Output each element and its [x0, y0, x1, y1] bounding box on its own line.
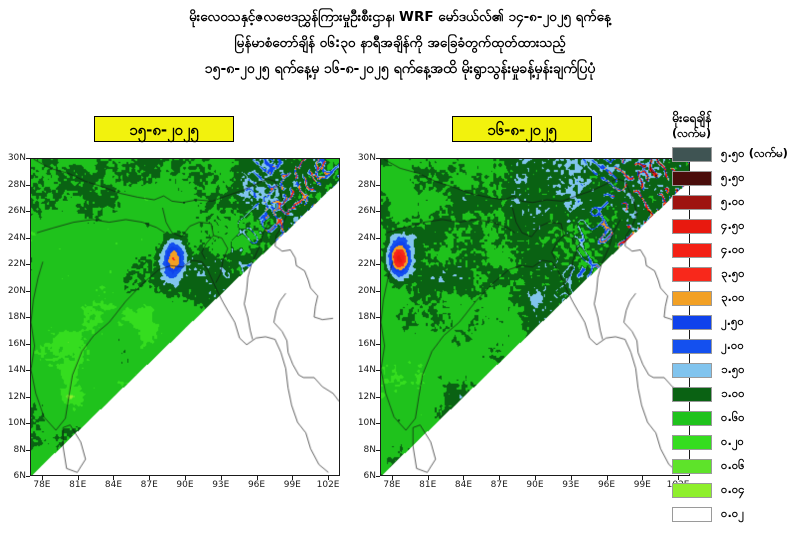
x-axis-tick — [292, 476, 293, 480]
legend-row: ၄.၀၀ — [672, 238, 800, 262]
x-axis-label: 84E — [105, 480, 122, 490]
legend-row: ၃.၀၀ — [672, 286, 800, 310]
x-axis-label: 90E — [526, 480, 543, 490]
y-axis-label: 22N — [8, 259, 26, 269]
legend-color-swatch — [672, 267, 712, 282]
y-axis-label: 14N — [358, 365, 376, 375]
legend-label: ၀.၀၂ — [721, 506, 744, 523]
x-axis-tick — [535, 476, 536, 480]
y-axis-tick — [26, 344, 30, 345]
x-axis-label: 96E — [248, 480, 265, 490]
x-axis-tick — [328, 476, 329, 480]
y-axis-tick — [26, 238, 30, 239]
legend-row: ၃.၅၀ — [672, 262, 800, 286]
legend-color-swatch — [672, 339, 712, 354]
x-axis-tick — [642, 476, 643, 480]
x-axis-label: 90E — [176, 480, 193, 490]
y-axis-label: 14N — [8, 365, 26, 375]
title-line-3: ၁၅-၈-၂၀၂၅ ရက်နေ့မှ ၁၆-၈-၂၀၂၅ ရက်နေ့အထိ မ… — [0, 56, 800, 82]
rainfall-map-right: 30N28N26N24N22N20N18N16N14N12N10N8N6N78E… — [380, 158, 690, 476]
y-axis-label: 16N — [8, 339, 26, 349]
x-axis-tick — [149, 476, 150, 480]
x-axis-label: 99E — [284, 480, 301, 490]
legend-color-swatch — [672, 315, 712, 330]
y-axis-tick — [26, 264, 30, 265]
legend-color-swatch — [672, 219, 712, 234]
y-axis-tick — [26, 211, 30, 212]
y-axis-label: 6N — [14, 471, 26, 481]
y-axis-tick — [376, 211, 380, 212]
x-axis-tick — [185, 476, 186, 480]
x-axis-tick — [463, 476, 464, 480]
y-axis-tick — [376, 370, 380, 371]
x-axis-tick — [571, 476, 572, 480]
legend-label: ၅.၅၀ (လက်မ) — [721, 146, 788, 163]
legend-color-swatch — [672, 411, 712, 426]
date-banner-left: ၁၅-၈-၂၀၂၅ — [94, 116, 234, 142]
map-frame-right — [380, 158, 690, 476]
y-axis-tick — [26, 476, 30, 477]
y-axis-tick — [26, 370, 30, 371]
y-axis-label: 20N — [358, 286, 376, 296]
x-axis-tick — [428, 476, 429, 480]
x-axis-label: 81E — [419, 480, 436, 490]
legend-label: ၄.၀၀ — [721, 242, 745, 259]
legend-label: ၀.၀၄ — [721, 482, 745, 499]
y-axis-label: 12N — [358, 392, 376, 402]
legend-row: ၀.၆၀ — [672, 406, 800, 430]
x-axis-tick — [392, 476, 393, 480]
legend-row: ၂.၅၀ — [672, 310, 800, 334]
legend-title: မိုးရေချိန် — [672, 110, 800, 126]
y-axis-label: 28N — [358, 180, 376, 190]
y-axis-tick — [376, 317, 380, 318]
y-axis-label: 30N — [8, 153, 26, 163]
legend-row: ၁.၀၀ — [672, 382, 800, 406]
legend-label: ၀.၀၆ — [721, 458, 745, 475]
y-axis-tick — [376, 476, 380, 477]
map-frame-left — [30, 158, 340, 476]
legend-label: ၀.၆၀ — [721, 410, 745, 427]
legend-color-swatch — [672, 483, 712, 498]
legend-color-swatch — [672, 459, 712, 474]
y-axis-tick — [376, 344, 380, 345]
legend-label: ၅.၅၀ — [721, 170, 745, 187]
x-axis-label: 93E — [562, 480, 579, 490]
x-axis-tick — [607, 476, 608, 480]
legend-row: ၅.၅၀ — [672, 166, 800, 190]
y-axis-tick — [26, 185, 30, 186]
y-axis-label: 6N — [364, 471, 376, 481]
y-axis-tick — [376, 291, 380, 292]
date-banner-right: ၁၆-၈-၂၀၂၅ — [452, 116, 592, 142]
x-axis-label: 99E — [634, 480, 651, 490]
legend-row: ၁.၅၀ — [672, 358, 800, 382]
x-axis-label: 96E — [598, 480, 615, 490]
x-axis-tick — [78, 476, 79, 480]
legend-color-swatch — [672, 363, 712, 378]
legend-label: ၂.၅၀ — [721, 314, 744, 331]
x-axis-label: 78E — [33, 480, 50, 490]
y-axis-label: 10N — [358, 418, 376, 428]
legend-color-swatch — [672, 195, 712, 210]
legend-label: ၅.၀၀ — [721, 194, 745, 211]
x-axis-tick — [113, 476, 114, 480]
legend-row: ၅.၀၀ — [672, 190, 800, 214]
title-line-2: မြန်မာစံတော်ချိန် ၀၆:၃၀ နာရီအချိန်ကို အခ… — [0, 30, 800, 56]
y-axis-tick — [376, 158, 380, 159]
y-axis-tick — [26, 291, 30, 292]
legend-row: ၀.၀၂ — [672, 502, 800, 526]
y-axis-label: 30N — [358, 153, 376, 163]
y-axis-tick — [376, 423, 380, 424]
legend-label: ၁.၅၀ — [721, 362, 745, 379]
legend-row: ၀.၀၄ — [672, 478, 800, 502]
y-axis-label: 26N — [358, 206, 376, 216]
legend-label: ၀.၂၀ — [721, 434, 744, 451]
x-axis-label: 87E — [491, 480, 508, 490]
legend-label: ၁.၀၀ — [721, 386, 745, 403]
x-axis-tick — [221, 476, 222, 480]
y-axis-label: 24N — [8, 233, 26, 243]
y-axis-tick — [26, 423, 30, 424]
y-axis-tick — [376, 264, 380, 265]
legend-color-swatch — [672, 291, 712, 306]
y-axis-tick — [26, 158, 30, 159]
legend-label: ၄.၅၀ — [721, 218, 745, 235]
x-axis-label: 102E — [317, 480, 340, 490]
legend-row: ၀.၀၆ — [672, 454, 800, 478]
legend-color-swatch — [672, 435, 712, 450]
title-line-1: မိုးလေဝသနှင့်ဇလဗေဒညွှန်ကြားမှုဦးစီးဌာန၊ … — [0, 4, 800, 30]
y-axis-label: 8N — [364, 445, 376, 455]
y-axis-label: 18N — [358, 312, 376, 322]
x-axis-tick — [257, 476, 258, 480]
legend-color-swatch — [672, 171, 712, 186]
legend-row: ၂.၀၀ — [672, 334, 800, 358]
legend-row: ၅.၅၀ (လက်မ) — [672, 142, 800, 166]
x-axis-label: 78E — [383, 480, 400, 490]
y-axis-label: 12N — [8, 392, 26, 402]
y-axis-tick — [26, 317, 30, 318]
page-title: မိုးလေဝသနှင့်ဇလဗေဒညွှန်ကြားမှုဦးစီးဌာန၊ … — [0, 4, 800, 82]
y-axis-tick — [376, 397, 380, 398]
y-axis-tick — [376, 238, 380, 239]
y-axis-tick — [376, 450, 380, 451]
x-axis-label: 84E — [455, 480, 472, 490]
legend-color-swatch — [672, 507, 712, 522]
y-axis-label: 18N — [8, 312, 26, 322]
y-axis-tick — [376, 185, 380, 186]
y-axis-tick — [26, 397, 30, 398]
rainfall-map-left: 30N28N26N24N22N20N18N16N14N12N10N8N6N78E… — [30, 158, 340, 476]
legend-label: ၃.၀၀ — [721, 290, 745, 307]
y-axis-label: 28N — [8, 180, 26, 190]
rainfall-heatmap-right — [381, 159, 689, 475]
y-axis-label: 24N — [358, 233, 376, 243]
y-axis-label: 26N — [8, 206, 26, 216]
y-axis-label: 22N — [358, 259, 376, 269]
legend-items: ၅.၅၀ (လက်မ)၅.၅၀၅.၀၀၄.၅၀၄.၀၀၃.၅၀၃.၀၀၂.၅၀၂… — [672, 142, 800, 526]
legend-color-swatch — [672, 243, 712, 258]
legend-row: ၀.၂၀ — [672, 430, 800, 454]
x-axis-label: 87E — [141, 480, 158, 490]
x-axis-tick — [42, 476, 43, 480]
x-axis-label: 81E — [69, 480, 86, 490]
y-axis-tick — [26, 450, 30, 451]
legend-color-swatch — [672, 387, 712, 402]
legend-row: ၄.၅၀ — [672, 214, 800, 238]
x-axis-tick — [499, 476, 500, 480]
rainfall-legend: မိုးရေချိန် (လက်မ) ၅.၅၀ (လက်မ)၅.၅၀၅.၀၀၄.… — [672, 110, 800, 526]
x-axis-label: 93E — [212, 480, 229, 490]
y-axis-label: 16N — [358, 339, 376, 349]
legend-label: ၂.၀၀ — [721, 338, 744, 355]
legend-unit: (လက်မ) — [672, 126, 800, 141]
legend-label: ၃.၅၀ — [721, 266, 745, 283]
y-axis-label: 8N — [14, 445, 26, 455]
legend-color-swatch — [672, 147, 712, 162]
y-axis-label: 20N — [8, 286, 26, 296]
rainfall-heatmap-left — [31, 159, 339, 475]
y-axis-label: 10N — [8, 418, 26, 428]
